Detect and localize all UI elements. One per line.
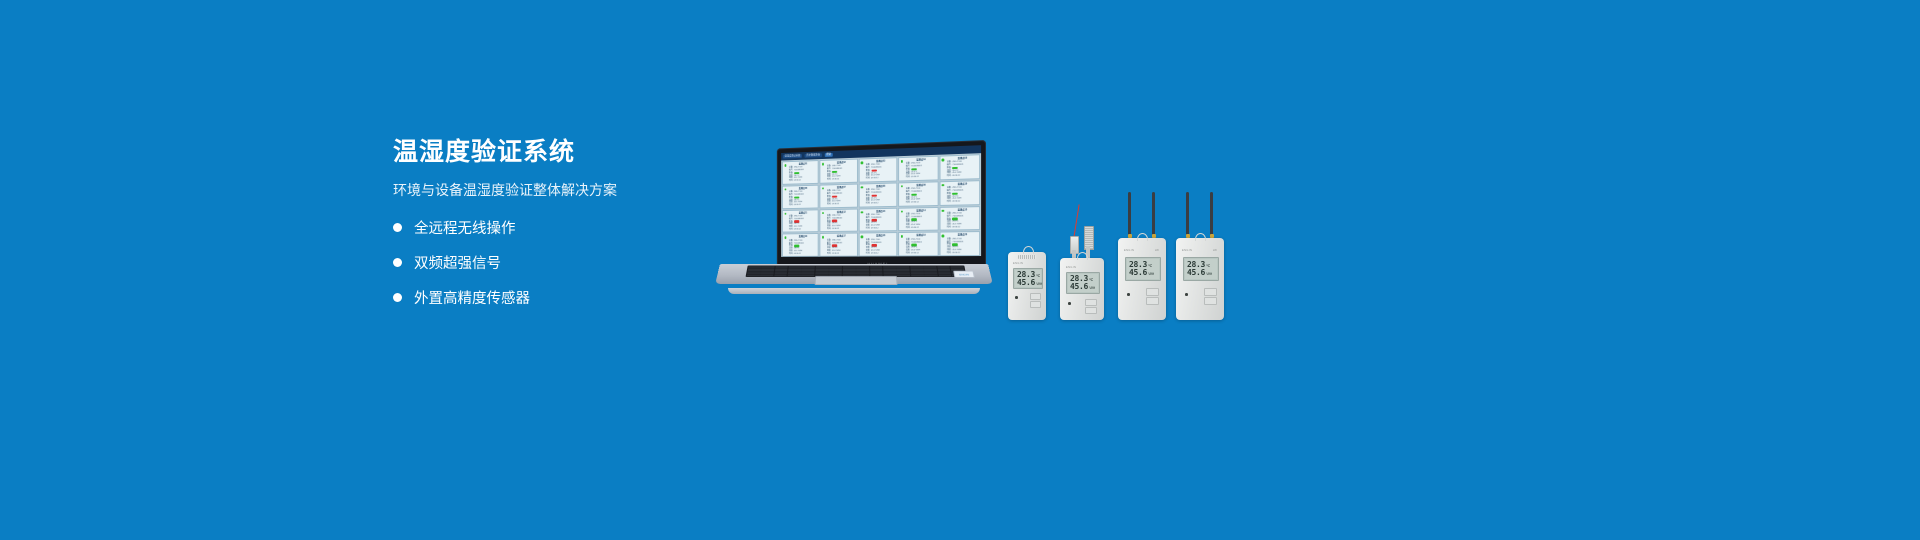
- card-field: 时间:09:36:12: [789, 253, 817, 255]
- device-button-up[interactable]: [1204, 288, 1217, 296]
- keyboard-key[interactable]: [924, 274, 937, 276]
- status-dot-icon: [901, 210, 903, 213]
- page-title: 温湿度验证系统: [393, 139, 723, 167]
- monitoring-grid: 监测点01设备:ZND-T100编号:7100086001数值:温度:28.3℃…: [781, 153, 981, 257]
- monitoring-card[interactable]: 监测点07设备:ZND-T100编号:7100086001数值:温度:28.3℃…: [820, 183, 858, 208]
- card-title: 监测点16: [789, 236, 817, 239]
- card-field-value: 09:36:12: [832, 179, 839, 181]
- device-lcd-screen: 28.3 ℃ 45.6 %RH: [1125, 257, 1161, 281]
- card-field-label: 时间:: [866, 252, 870, 254]
- monitoring-card[interactable]: 监测点20设备:ZND-T100编号:7100086001数值:温度:28.3℃…: [939, 232, 980, 257]
- card-field: 时间:09:36:12: [906, 226, 937, 228]
- monitoring-card[interactable]: 监测点19设备:ZND-T100编号:7100086001数值:温度:28.3℃…: [898, 232, 938, 257]
- device-model-label: H8: [1213, 249, 1217, 252]
- laptop-sticker: ENGIN: [953, 271, 975, 278]
- monitoring-card[interactable]: 监测点15设备:ZND-T100编号:7100086001数值:温度:28.3℃…: [939, 206, 980, 231]
- card-field: 时间:09:36:12: [827, 228, 856, 230]
- vent-grill-icon: [1018, 255, 1036, 259]
- device-lcd-screen: 28.3 ℃ 45.6 %RH: [1183, 257, 1219, 281]
- status-dot-icon: [901, 185, 903, 188]
- card-field-value: 09:36:12: [871, 177, 878, 179]
- status-dot-icon: [942, 184, 944, 187]
- bullet-dot-icon: [393, 258, 402, 267]
- status-led-icon: [1127, 293, 1130, 296]
- monitoring-card[interactable]: 监测点01设备:ZND-T100编号:7100086001数值:温度:28.3℃…: [782, 160, 819, 185]
- status-dot-icon: [861, 211, 863, 214]
- card-field: 时间:09:36:12: [789, 204, 817, 207]
- device-button-down[interactable]: [1030, 301, 1041, 308]
- card-field-label: 时间:: [906, 176, 910, 178]
- status-dot-icon: [901, 235, 903, 238]
- card-field-value: 7100086001: [832, 193, 842, 195]
- device-button-up[interactable]: [1030, 293, 1041, 300]
- device-button-up[interactable]: [1085, 299, 1097, 306]
- card-field-label: 时间:: [827, 253, 831, 255]
- card-field: 时间:09:36:12: [827, 178, 856, 181]
- card-field-value: 7100086001: [832, 168, 842, 170]
- feature-label: 双频超强信号: [414, 252, 501, 273]
- sensor-device-group: ENGIN 28.3 ℃ 45.6 %RH: [1000, 170, 1230, 320]
- banner-stage: 温湿度验证系统 环境与设备温湿度验证整体解决方案 全远程无线操作 双频超强信号 …: [0, 0, 1920, 540]
- card-field-label: 时间:: [866, 178, 870, 180]
- monitoring-card[interactable]: 监测点09设备:ZND-T100编号:7100086001数值:温度:28.3℃…: [898, 181, 938, 206]
- laptop-trackpad[interactable]: [815, 276, 898, 285]
- card-field: 时间:09:36:12: [789, 179, 817, 182]
- hanger-loop-icon: [1137, 233, 1148, 241]
- card-field-value: 09:36:12: [832, 228, 839, 230]
- card-field: 时间:09:36:12: [827, 252, 856, 254]
- card-field-label: 时间:: [906, 202, 910, 204]
- monitoring-card[interactable]: 监测点06设备:ZND-T100编号:7100086001数值:温度:28.3℃…: [782, 185, 819, 209]
- status-dot-icon: [861, 236, 863, 239]
- status-dot-icon: [784, 188, 786, 190]
- keyboard-key[interactable]: [774, 274, 787, 276]
- monitoring-card[interactable]: 监测点14设备:ZND-T100编号:7100086001数值:温度:28.3℃…: [898, 207, 938, 232]
- status-led-icon: [1015, 296, 1018, 299]
- humidity-reading: 45.6 %RH: [1129, 269, 1159, 277]
- antenna-right-icon: [1152, 192, 1155, 236]
- antenna-left-icon: [1186, 192, 1189, 236]
- keyboard-key[interactable]: [760, 274, 773, 276]
- status-dot-icon: [784, 237, 786, 239]
- card-field-label: 时间:: [827, 203, 831, 205]
- status-dot-icon: [861, 161, 863, 164]
- device-brand-label: ENGIN: [1124, 249, 1134, 252]
- device-model-label: H8: [1155, 249, 1159, 252]
- list-item: 全远程无线操作: [393, 217, 723, 238]
- status-led-icon: [1185, 293, 1188, 296]
- card-field-value: 09:36:12: [794, 204, 801, 206]
- status-dot-icon: [822, 212, 824, 215]
- monitoring-card[interactable]: 监测点17设备:ZND-T100编号:7100086001数值:温度:28.3℃…: [820, 233, 858, 257]
- tab-history[interactable]: 历史数据查询: [805, 154, 822, 158]
- bullet-dot-icon: [393, 223, 402, 232]
- laptop-product-image: 温湿度验证系统 历史数据查询 帮助 监测点01设备:ZND-T100编号:710…: [718, 140, 990, 300]
- card-field-value: 09:36:12: [952, 226, 960, 228]
- card-field: 时间:09:36:12: [866, 177, 896, 180]
- card-field-value: 7100086001: [911, 191, 922, 193]
- laptop-base-surface: ENGIN: [715, 264, 993, 284]
- card-field-label: 时间:: [906, 227, 910, 229]
- status-dot-icon: [822, 163, 824, 166]
- card-title: 监测点20: [947, 235, 978, 238]
- card-field-value: 09:36:12: [871, 227, 878, 229]
- device-brand-label: ENGIN: [1013, 262, 1023, 265]
- status-dot-icon: [942, 158, 944, 161]
- card-field: 时间:09:36:12: [789, 228, 817, 230]
- card-field-value: 09:36:12: [794, 228, 801, 230]
- card-field-label: 时间:: [789, 253, 793, 255]
- humidity-reading: 45.6 %RH: [1070, 283, 1098, 291]
- hero-copy: 温湿度验证系统 环境与设备温湿度验证整体解决方案 全远程无线操作 双频超强信号 …: [393, 139, 723, 322]
- laptop-keyboard[interactable]: [746, 265, 966, 276]
- monitoring-card[interactable]: 监测点18设备:ZND-T100编号:7100086001数值:温度:28.3℃…: [859, 233, 898, 257]
- card-field: 时间:09:36:12: [947, 226, 978, 229]
- card-field-value: 09:36:12: [911, 227, 919, 229]
- card-field-label: 时间:: [789, 228, 793, 230]
- hanger-loop-icon: [1023, 246, 1034, 254]
- card-field-label: 时间:: [947, 226, 952, 228]
- probe-cable: [1073, 204, 1080, 240]
- status-dot-icon: [942, 209, 944, 212]
- card-field-label: 时间:: [789, 204, 793, 206]
- device-button-up[interactable]: [1146, 288, 1159, 296]
- monitoring-card[interactable]: 监测点12设备:ZND-T100编号:7100086001数值:温度:28.3℃…: [820, 208, 858, 232]
- card-field-value: 7100086001: [794, 169, 804, 171]
- card-field-value: 09:36:12: [832, 252, 839, 254]
- antenna-right-icon: [1210, 192, 1213, 236]
- card-field-value: 7100086001: [871, 192, 882, 194]
- card-field-value: 09:36:12: [952, 252, 960, 254]
- card-field-value: 09:36:12: [952, 175, 960, 177]
- card-field: 时间:09:36:12: [947, 174, 978, 177]
- device-button-down[interactable]: [1204, 297, 1217, 305]
- card-field: 时间:09:36:12: [906, 252, 937, 254]
- hero-subtitle: 环境与设备温湿度验证整体解决方案: [393, 181, 723, 199]
- card-title: 监测点17: [827, 236, 856, 239]
- monitoring-card[interactable]: 监测点13设备:ZND-T100编号:7100086001数值:温度:28.3℃…: [859, 207, 898, 232]
- monitoring-card[interactable]: 监测点04设备:ZND-T100编号:7100086001数值:温度:28.3℃…: [898, 156, 938, 182]
- device-lcd-screen: 28.3 ℃ 45.6 %RH: [1013, 268, 1043, 289]
- card-field-label: 时间:: [827, 228, 831, 230]
- card-field-value: 09:36:12: [911, 176, 919, 178]
- card-field-label: 时间:: [947, 201, 952, 203]
- laptop-screen: 温湿度验证系统 历史数据查询 帮助 监测点01设备:ZND-T100编号:710…: [781, 145, 981, 257]
- monitoring-card[interactable]: 监测点11设备:ZND-T100编号:7100086001数值:温度:28.3℃…: [782, 209, 819, 233]
- bullet-dot-icon: [393, 293, 402, 302]
- tab-monitoring[interactable]: 温湿度验证系统: [783, 154, 802, 158]
- feature-list: 全远程无线操作 双频超强信号 外置高精度传感器: [393, 217, 723, 308]
- card-field-value: 7100086001: [911, 165, 922, 167]
- keyboard-key[interactable]: [747, 274, 760, 276]
- status-dot-icon: [784, 212, 786, 214]
- status-dot-icon: [784, 164, 786, 167]
- list-item: 双频超强信号: [393, 252, 723, 273]
- card-field: 时间:09:36:12: [866, 202, 896, 205]
- monitoring-card[interactable]: 监测点08设备:ZND-T100编号:7100086001数值:温度:28.3℃…: [859, 182, 898, 207]
- monitoring-card[interactable]: 监测点02设备:ZND-T100编号:7100086001数值:温度:28.3℃…: [820, 159, 858, 184]
- device-lcd-screen: 28.3 ℃ 45.6 %RH: [1066, 272, 1100, 294]
- card-field-value: 09:36:12: [871, 252, 878, 254]
- status-dot-icon: [822, 187, 824, 190]
- card-field-label: 时间:: [866, 227, 870, 229]
- hanger-loop-icon: [1077, 252, 1088, 260]
- keyboard-key[interactable]: [897, 274, 910, 276]
- card-field-value: 7100086001: [952, 189, 963, 191]
- card-field: 时间:09:36:12: [947, 200, 978, 203]
- laptop-base-front: [728, 288, 980, 294]
- card-field-value: 09:36:12: [794, 180, 801, 182]
- laptop-lid: 温湿度验证系统 历史数据查询 帮助 监测点01设备:ZND-T100编号:710…: [777, 140, 986, 270]
- card-title: 监测点18: [866, 235, 896, 238]
- device-button-down[interactable]: [1085, 307, 1097, 314]
- humidity-reading: 45.6 %RH: [1187, 269, 1217, 277]
- keyboard-key[interactable]: [801, 274, 814, 276]
- monitoring-card[interactable]: 监测点10设备:ZND-T100编号:7100086001数值:温度:28.3℃…: [939, 180, 980, 206]
- keyboard-key[interactable]: [911, 274, 924, 276]
- device-handheld-logger: ENGIN 28.3 ℃ 45.6 %RH: [1008, 244, 1046, 320]
- device-dual-antenna-a: ENGIN H8 28.3 ℃ 45.6 %RH: [1118, 192, 1166, 320]
- card-field-value: 09:36:12: [832, 203, 839, 205]
- device-brand-label: ENGIN: [1066, 266, 1076, 269]
- keyboard-key[interactable]: [938, 274, 951, 276]
- status-dot-icon: [822, 236, 824, 238]
- card-field-label: 时间:: [827, 179, 831, 181]
- card-field: 时间:09:36:12: [906, 201, 937, 204]
- keyboard-key[interactable]: [788, 274, 801, 276]
- device-button-down[interactable]: [1146, 297, 1159, 305]
- tab-help[interactable]: 帮助: [825, 153, 833, 157]
- humidity-reading: 45.6 %RH: [1017, 279, 1041, 287]
- card-field: 时间:09:36:12: [827, 203, 856, 206]
- feature-label: 外置高精度传感器: [414, 287, 530, 308]
- list-item: 外置高精度传感器: [393, 287, 723, 308]
- card-field-value: 09:36:12: [911, 252, 919, 254]
- card-field-value: 09:36:12: [794, 253, 801, 255]
- card-field: 时间:09:36:12: [866, 252, 896, 254]
- card-field: 时间:09:36:12: [866, 227, 896, 229]
- feature-label: 全远程无线操作: [414, 217, 516, 238]
- card-field-value: 09:36:12: [952, 201, 960, 203]
- card-field-value: 7100086001: [794, 194, 804, 196]
- card-field-label: 时间:: [947, 175, 952, 177]
- status-dot-icon: [901, 160, 903, 163]
- monitoring-card[interactable]: 监测点05设备:ZND-T100编号:7100086001数值:温度:28.3℃…: [939, 154, 980, 180]
- status-led-icon: [1068, 302, 1071, 305]
- card-field-value: 09:36:12: [871, 202, 878, 204]
- monitoring-card[interactable]: 监测点03设备:ZND-T100编号:7100086001数值:温度:28.3℃…: [859, 157, 898, 182]
- device-brand-label: ENGIN: [1182, 249, 1192, 252]
- card-field-value: 7100086001: [952, 164, 963, 166]
- antenna-left-icon: [1128, 192, 1131, 236]
- monitoring-card[interactable]: 监测点16设备:ZND-T100编号:7100086001数值:温度:28.3℃…: [782, 234, 819, 257]
- hanger-loop-icon: [1195, 233, 1206, 241]
- device-dual-antenna-b: ENGIN H8 28.3 ℃ 45.6 %RH: [1176, 192, 1224, 320]
- card-field-label: 时间:: [906, 252, 910, 254]
- card-field-label: 时间:: [947, 252, 952, 254]
- card-title: 监测点19: [906, 235, 937, 238]
- card-field-label: 时间:: [789, 180, 793, 182]
- device-probe-logger: ENGIN 28.3 ℃ 45.6 %RH: [1060, 204, 1104, 320]
- status-dot-icon: [942, 235, 944, 238]
- card-field: 时间:09:36:12: [906, 176, 937, 179]
- card-field: 时间:09:36:12: [947, 252, 978, 254]
- laptop-base: ENGIN: [718, 264, 990, 300]
- card-field-label: 时间:: [866, 203, 870, 205]
- card-field-value: 09:36:12: [911, 201, 919, 203]
- status-dot-icon: [861, 186, 863, 189]
